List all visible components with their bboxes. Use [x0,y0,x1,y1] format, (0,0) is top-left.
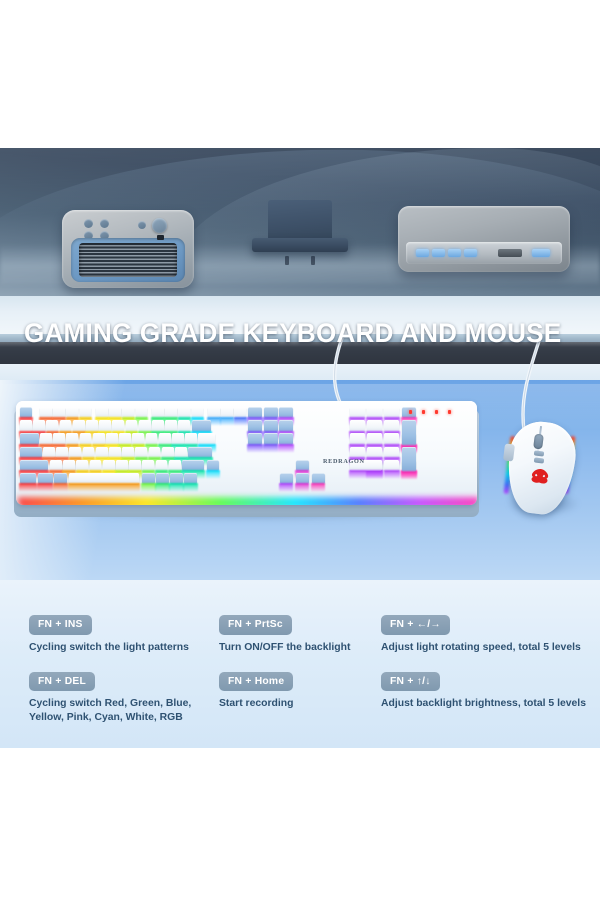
mouse [500,410,586,522]
feature-item-2: FN + PrtSc Turn ON/OFF the backlight [219,614,381,654]
feature-chip-2: FN + PrtSc [219,615,292,635]
monitor-stand-base [252,238,348,252]
keycap [33,420,45,431]
feature-item-5: FN + Home Start recording [219,671,381,724]
speaker-button-2 [100,219,109,228]
key-backlight [183,483,198,492]
keycap [402,447,417,472]
dock-port-5 [532,249,550,257]
feature-desc-4: Cycling switch Red, Green, Blue, Yellow,… [29,697,209,724]
key-backlight [278,444,294,453]
product-marketing-image: REDRAGON GAMING GRADE KEYBOARD AND MOUSE [0,0,600,900]
indicator-led-3 [435,410,438,414]
stand-slot-right [311,256,315,265]
stand-slot-left [285,256,289,265]
keyboard-brand-logo: REDRAGON [323,458,365,465]
keycap [20,420,32,431]
page-title: GAMING GRADE KEYBOARD AND MOUSE [24,318,568,349]
feature-item-1: FN + INS Cycling switch the light patter… [29,614,219,654]
key-backlight [53,483,68,492]
key-backlight [311,483,325,492]
key-backlight [141,483,156,492]
speaker-knob [152,218,167,233]
indicator-led-2 [422,410,425,414]
keycap [99,420,111,431]
feature-desc-5: Start recording [219,697,381,710]
keycap [112,420,124,431]
mouse-side-button [503,443,515,461]
dock-port-1 [416,249,429,257]
speaker-face [71,238,185,282]
keycap [402,420,417,445]
key-backlight [401,471,417,480]
keycap [86,420,98,431]
keycap [152,420,164,431]
bottom-white-margin [0,748,600,900]
keycap [60,420,72,431]
feature-item-4: FN + DEL Cycling switch Red, Green, Blue… [29,671,219,724]
key-backlight [279,483,293,492]
keycap [73,420,85,431]
speaker [62,210,194,288]
keycap [46,420,58,431]
speaker-button-5 [138,221,146,229]
feature-desc-1: Cycling switch the light patterns [29,641,209,654]
feature-chip-5: FN + Home [219,672,293,692]
feature-desc-3: Adjust light rotating speed, total 5 lev… [381,641,600,654]
key-backlight [384,470,400,479]
keyboard: REDRAGON [14,401,479,521]
feature-chip-3: FN + ←/→ [381,615,450,635]
indicator-led-1 [409,410,412,414]
key-backlight [263,444,279,453]
speaker-led [157,235,164,240]
hero-scene: REDRAGON GAMING GRADE KEYBOARD AND MOUSE [0,148,600,580]
keycap [126,420,138,431]
feature-chip-1: FN + INS [29,615,92,635]
keycap [192,420,212,431]
dock-port-2 [432,249,445,257]
keycap [248,420,262,431]
keycap [384,420,399,431]
key-backlight [349,470,382,479]
dock-port-4 [464,249,477,257]
feature-item-3: FN + ←/→ Adjust light rotating speed, to… [381,614,600,654]
keyboard-keys [16,401,477,505]
keycap [178,420,190,431]
keycap [139,420,151,431]
key-backlight [234,417,248,426]
key-backlight [37,483,53,492]
keycap [350,420,365,431]
key-backlight [220,417,234,426]
monitor-stand-neck [268,200,332,242]
feature-chip-6: FN + ↑/↓ [381,672,440,692]
features-panel: FN + INS Cycling switch the light patter… [0,580,600,748]
keycap [264,420,278,431]
top-white-margin [0,0,600,148]
key-backlight [169,483,184,492]
feature-desc-2: Turn ON/OFF the backlight [219,641,381,654]
dock-front-panel [406,242,562,264]
mouse-dpi-button-2 [534,457,545,463]
features-grid: FN + INS Cycling switch the light patter… [0,614,600,724]
feature-item-6: FN + ↑/↓ Adjust backlight brightness, to… [381,671,600,724]
feature-desc-6: Adjust backlight brightness, total 5 lev… [381,697,600,710]
dock-port-3 [448,249,461,257]
key-backlight [247,444,263,453]
dock-device [398,206,570,272]
key-backlight [68,483,140,492]
dragon-logo-icon [529,467,551,485]
speaker-grille [79,243,177,277]
feature-chip-4: FN + DEL [29,672,95,692]
speaker-button-1 [84,219,93,228]
key-backlight [19,483,36,492]
key-backlight [295,483,309,492]
indicator-led-4 [448,410,451,414]
keyboard-deck: REDRAGON [16,401,477,505]
dock-card-slot [498,249,522,257]
mouse-dpi-button-1 [534,450,545,456]
key-backlight [206,470,220,479]
keycap [367,420,382,431]
key-backlight [155,483,170,492]
keycap [279,420,293,431]
keycap [165,420,177,431]
